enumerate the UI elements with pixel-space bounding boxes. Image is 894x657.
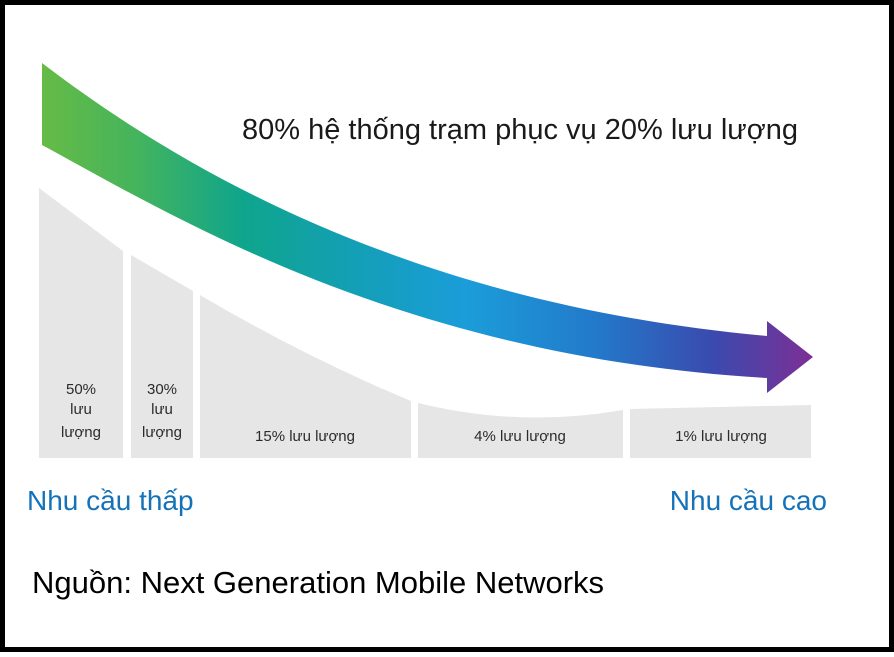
- bar-1-label-line1: 50%: [66, 381, 96, 398]
- axis-label-high-demand: Nhu cầu cao: [670, 485, 827, 516]
- bar-4-label: 4% lưu lượng: [474, 428, 566, 445]
- bar-2-label-line2: lưu: [151, 401, 173, 418]
- bar-2-label-line3: lượng: [142, 424, 182, 441]
- bar-5-label: 1% lưu lượng: [675, 428, 767, 445]
- axis-label-low-demand: Nhu cầu thấp: [27, 485, 194, 516]
- bar-2-label-line1: 30%: [147, 381, 177, 398]
- figure-container: 80% hệ thống trạm phục vụ 20% lưu lượng …: [0, 0, 894, 652]
- headline-label: 80% hệ thống trạm phục vụ 20% lưu lượng: [242, 114, 798, 146]
- source-label: Nguồn: Next Generation Mobile Networks: [32, 565, 604, 600]
- bar-3-label: 15% lưu lượng: [255, 428, 355, 445]
- bar-1-label-line2: lưu: [70, 401, 92, 418]
- traffic-demand-chart: 80% hệ thống trạm phục vụ 20% lưu lượng …: [5, 5, 894, 657]
- bar-1-label-line3: lượng: [61, 424, 101, 441]
